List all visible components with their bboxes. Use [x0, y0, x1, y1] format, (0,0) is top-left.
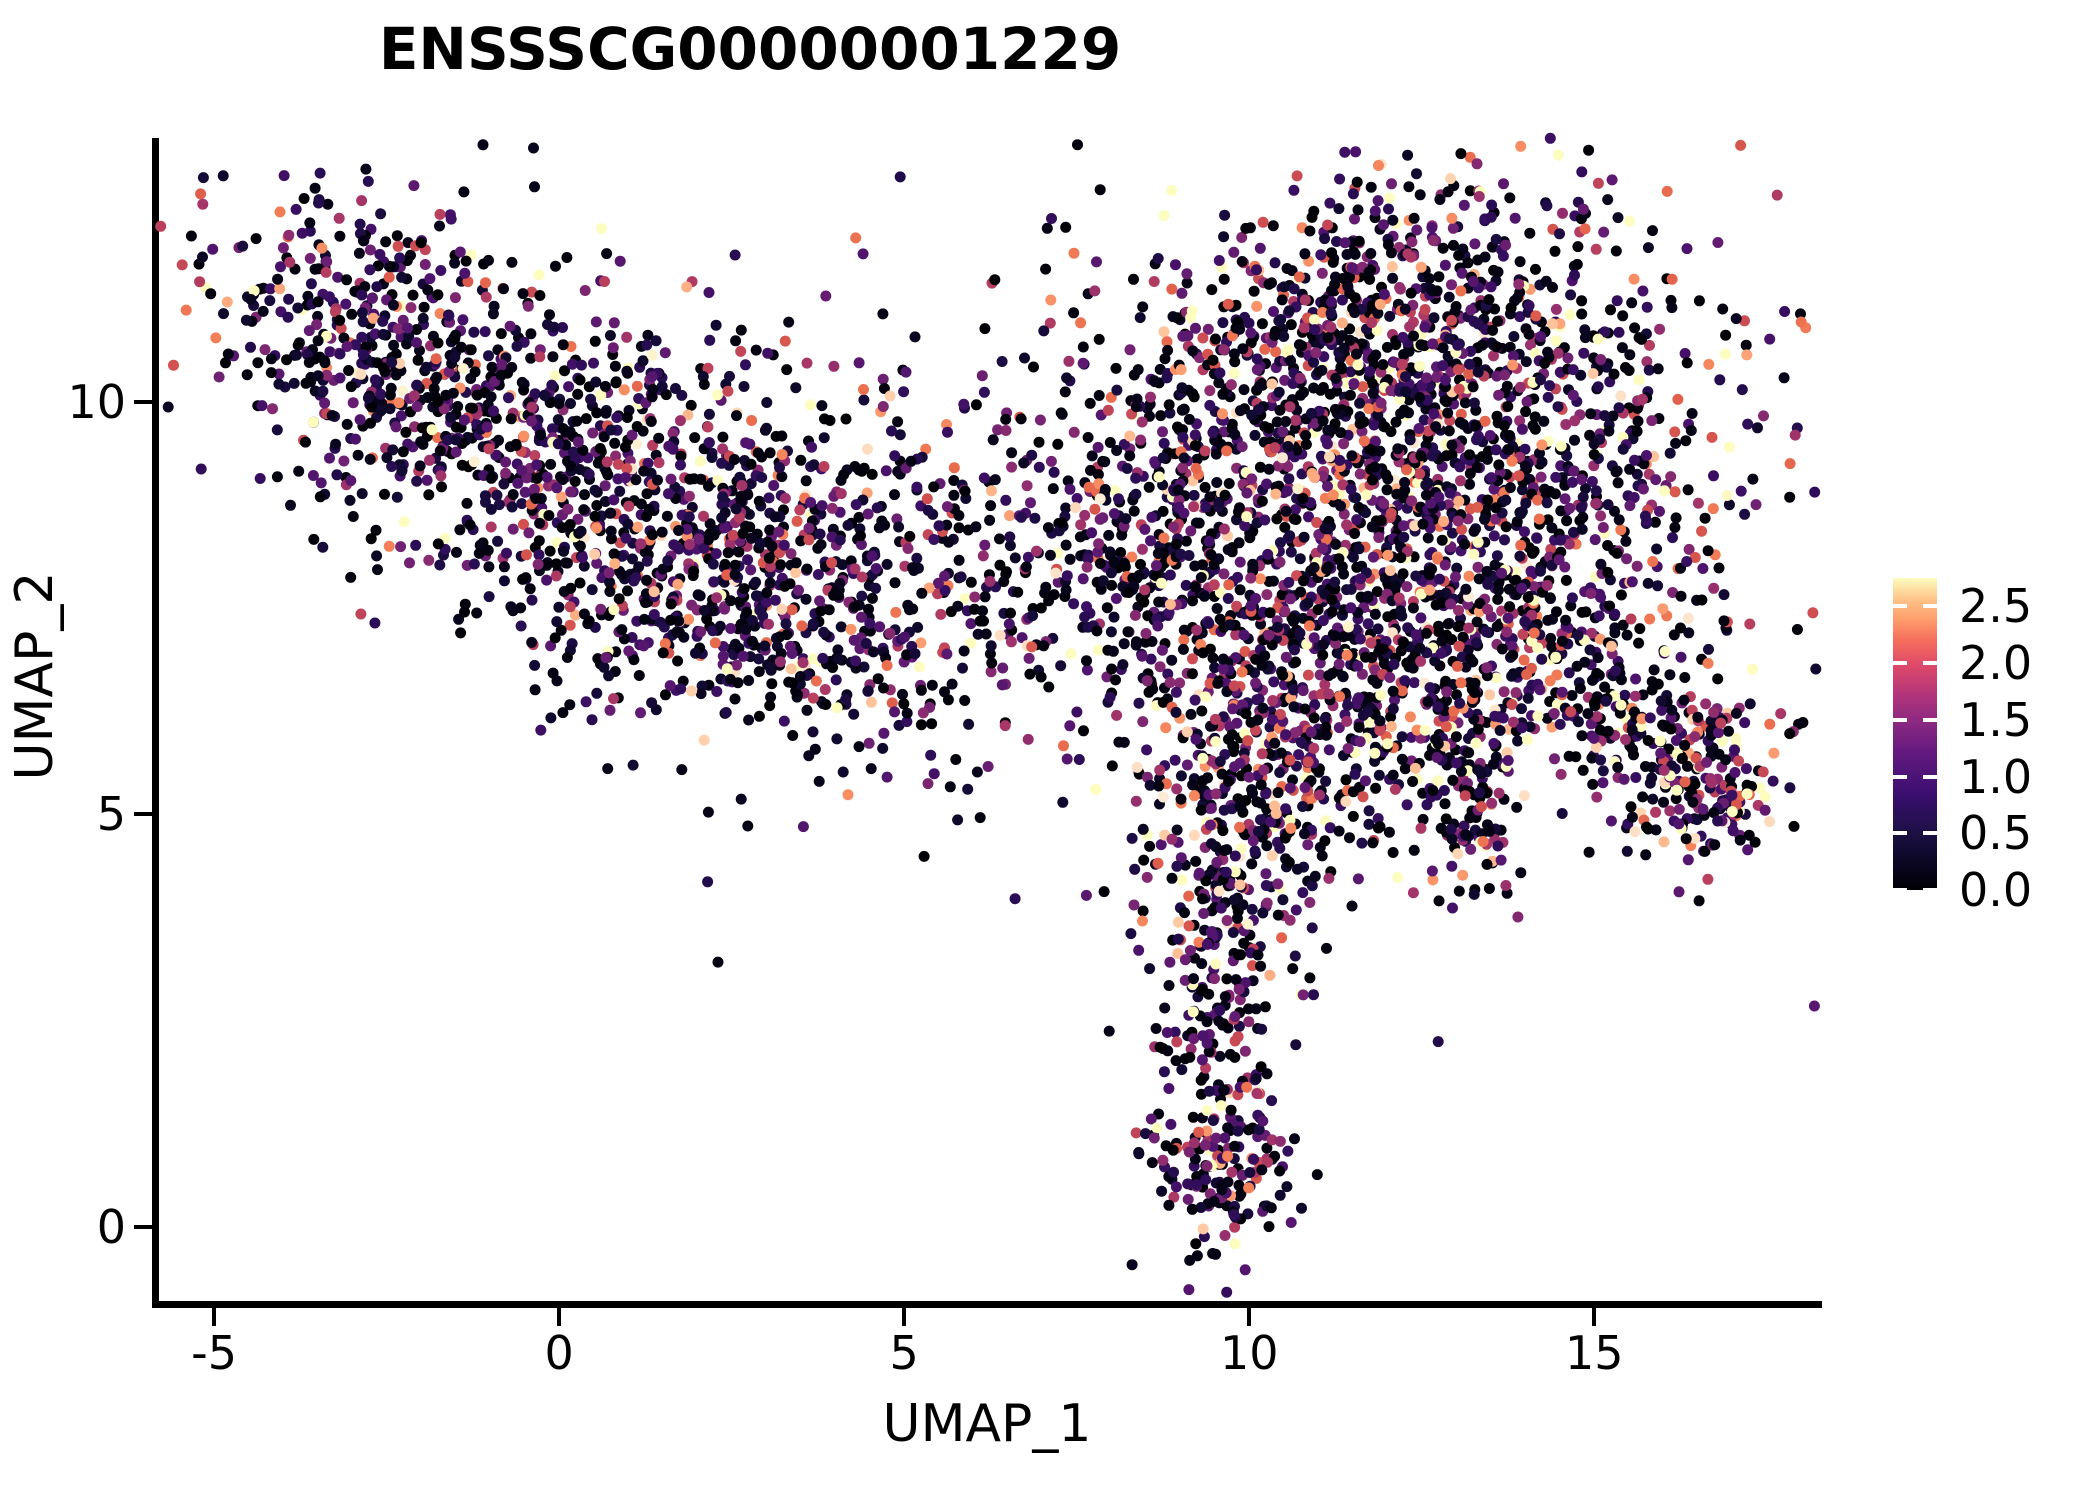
- scatter-point: [275, 206, 286, 217]
- scatter-point: [916, 719, 927, 730]
- scatter-point: [330, 439, 341, 450]
- scatter-point: [260, 344, 271, 355]
- scatter-point: [1387, 273, 1398, 284]
- scatter-point: [1503, 613, 1514, 624]
- scatter-point: [1369, 462, 1380, 473]
- scatter-point: [1551, 304, 1562, 315]
- scatter-point: [863, 685, 874, 696]
- scatter-point: [1654, 506, 1665, 517]
- scatter-point: [1666, 302, 1677, 313]
- scatter-point: [703, 481, 714, 492]
- scatter-point: [266, 367, 277, 378]
- scatter-point: [1395, 552, 1406, 563]
- scatter-point: [1177, 462, 1188, 473]
- scatter-point: [1268, 576, 1279, 587]
- scatter-point: [1504, 601, 1515, 612]
- scatter-point: [1268, 220, 1279, 231]
- scatter-point: [1127, 833, 1138, 844]
- scatter-point: [272, 274, 283, 285]
- scatter-point: [1632, 426, 1643, 437]
- scatter-point: [1433, 626, 1444, 637]
- scatter-point: [890, 607, 901, 618]
- scatter-point: [1000, 414, 1011, 425]
- scatter-point: [342, 419, 353, 430]
- scatter-point: [1622, 630, 1633, 641]
- scatter-point: [722, 386, 733, 397]
- scatter-point: [549, 322, 560, 333]
- scatter-point: [704, 437, 715, 448]
- scatter-point: [267, 403, 278, 414]
- scatter-point: [563, 381, 574, 392]
- scatter-point: [849, 602, 860, 613]
- scatter-point: [1472, 158, 1483, 169]
- scatter-point: [1212, 603, 1223, 614]
- scatter-point: [1519, 655, 1530, 666]
- scatter-point: [693, 533, 704, 544]
- scatter-point: [1642, 302, 1653, 313]
- scatter-point: [1321, 730, 1332, 741]
- scatter-point: [1103, 405, 1114, 416]
- scatter-point: [783, 317, 794, 328]
- scatter-point: [1108, 646, 1119, 657]
- scatter-point: [602, 469, 613, 480]
- scatter-point: [283, 230, 294, 241]
- scatter-point: [948, 490, 959, 501]
- scatter-point: [451, 547, 462, 558]
- scatter-point: [889, 450, 900, 461]
- scatter-point: [1170, 755, 1181, 766]
- scatter-point: [531, 459, 542, 470]
- scatter-point: [1463, 369, 1474, 380]
- scatter-point: [1295, 553, 1306, 564]
- scatter-point: [975, 812, 986, 823]
- scatter-point: [1004, 531, 1015, 542]
- scatter-point: [365, 418, 376, 429]
- scatter-point: [1599, 410, 1610, 421]
- scatter-point: [1069, 427, 1080, 438]
- scatter-point: [1580, 223, 1591, 234]
- scatter-point: [1191, 625, 1202, 636]
- scatter-point: [508, 489, 519, 500]
- scatter-point: [1647, 225, 1658, 236]
- scatter-point: [1382, 738, 1393, 749]
- scatter-point: [252, 357, 263, 368]
- scatter-point: [765, 578, 776, 589]
- scatter-point: [396, 272, 407, 283]
- scatter-point: [638, 466, 649, 477]
- scatter-point: [600, 408, 611, 419]
- scatter-point: [393, 323, 404, 334]
- scatter-point: [528, 143, 539, 154]
- scatter-point: [791, 557, 802, 568]
- scatter-point: [990, 474, 1001, 485]
- scatter-point: [284, 257, 295, 268]
- scatter-point: [979, 473, 990, 484]
- scatter-point: [1006, 462, 1017, 473]
- scatter-point: [299, 193, 310, 204]
- scatter-point: [434, 221, 445, 232]
- scatter-point: [1255, 573, 1266, 584]
- scatter-point: [394, 252, 405, 263]
- scatter-point: [571, 416, 582, 427]
- scatter-point: [496, 328, 507, 339]
- scatter-point: [1585, 408, 1596, 419]
- scatter-point: [1398, 568, 1409, 579]
- scatter-point: [695, 626, 706, 637]
- scatter-point: [774, 631, 785, 642]
- scatter-point: [750, 577, 761, 588]
- scatter-point: [529, 181, 540, 192]
- scatter-point: [1055, 660, 1066, 671]
- scatter-point: [895, 171, 906, 182]
- scatter-point: [879, 520, 890, 531]
- scatter-point: [1309, 562, 1320, 573]
- scatter-point: [730, 560, 741, 571]
- scatter-point: [1149, 375, 1160, 386]
- scatter-point: [488, 406, 499, 417]
- scatter-point: [858, 395, 869, 406]
- scatter-point: [1384, 827, 1395, 838]
- scatter-point: [1217, 317, 1228, 328]
- scatter-point: [432, 289, 443, 300]
- scatter-point: [1453, 496, 1464, 507]
- scatter-point: [1024, 669, 1035, 680]
- scatter-point: [923, 778, 934, 789]
- scatter-point: [1227, 703, 1238, 714]
- scatter-point: [977, 605, 988, 616]
- scatter-point: [590, 336, 601, 347]
- scatter-point: [1081, 890, 1092, 901]
- scatter-point: [608, 604, 619, 615]
- scatter-point: [1090, 784, 1101, 795]
- scatter-point: [1200, 502, 1211, 513]
- scatter-point: [408, 290, 419, 301]
- scatter-point: [1209, 559, 1220, 570]
- scatter-point: [304, 217, 315, 228]
- scatter-point: [365, 454, 376, 465]
- scatter-point: [1378, 498, 1389, 509]
- scatter-point: [1790, 430, 1801, 441]
- scatter-point: [889, 706, 900, 717]
- scatter-point: [1680, 435, 1691, 446]
- scatter-point: [952, 814, 963, 825]
- scatter-point: [1722, 490, 1733, 501]
- scatter-point: [867, 551, 878, 562]
- scatter-point: [776, 431, 787, 442]
- scatter-point: [1137, 544, 1148, 555]
- scatter-point: [790, 567, 801, 578]
- scatter-point: [455, 627, 466, 638]
- scatter-point: [1043, 522, 1054, 533]
- scatter-point: [703, 534, 714, 545]
- scatter-point: [459, 415, 470, 426]
- scatter-point: [977, 370, 988, 381]
- scatter-point: [1303, 598, 1314, 609]
- scatter-point: [660, 638, 671, 649]
- scatter-point: [357, 307, 368, 318]
- scatter-point: [395, 541, 406, 552]
- scatter-point: [534, 290, 545, 301]
- scatter-point: [1521, 356, 1532, 367]
- scatter-point: [1580, 332, 1591, 343]
- scatter-point: [486, 391, 497, 402]
- scatter-point: [1375, 690, 1386, 701]
- scatter-point: [1239, 384, 1250, 395]
- scatter-point: [1455, 417, 1466, 428]
- scatter-point: [1603, 426, 1614, 437]
- scatter-point: [1524, 228, 1535, 239]
- scatter-point: [723, 547, 734, 558]
- scatter-point: [640, 597, 651, 608]
- scatter-point: [358, 349, 369, 360]
- scatter-point: [1134, 570, 1145, 581]
- scatter-point: [523, 527, 534, 538]
- scatter-point: [1064, 720, 1075, 731]
- scatter-point: [304, 325, 315, 336]
- scatter-point: [292, 303, 303, 314]
- scatter-point: [443, 310, 454, 321]
- scatter-point: [870, 583, 881, 594]
- scatter-point: [1382, 484, 1393, 495]
- scatter-point: [450, 292, 461, 303]
- scatter-point: [1741, 340, 1752, 351]
- scatter-point: [1536, 472, 1547, 483]
- scatter-point: [910, 331, 921, 342]
- scatter-point: [635, 538, 646, 549]
- scatter-point: [1144, 482, 1155, 493]
- scatter-point: [902, 708, 913, 719]
- scatter-point: [1484, 689, 1495, 700]
- scatter-point: [861, 638, 872, 649]
- scatter-point: [1397, 731, 1408, 742]
- scatter-point: [521, 549, 532, 560]
- scatter-point: [1339, 147, 1350, 158]
- scatter-point: [580, 285, 591, 296]
- scatter-point: [304, 357, 315, 368]
- scatter-point: [634, 670, 645, 681]
- scatter-point: [673, 544, 684, 555]
- scatter-point: [614, 486, 625, 497]
- scatter-point: [695, 456, 706, 467]
- scatter-point: [1031, 546, 1042, 557]
- scatter-point: [1353, 502, 1364, 513]
- scatter-point: [1344, 832, 1355, 843]
- scatter-point: [941, 649, 952, 660]
- scatter-point: [1085, 465, 1096, 476]
- scatter-point: [805, 399, 816, 410]
- scatter-point: [743, 715, 754, 726]
- scatter-point: [345, 475, 356, 486]
- scatter-point: [838, 469, 849, 480]
- scatter-point: [449, 258, 460, 269]
- scatter-point: [343, 365, 354, 376]
- scatter-point: [1106, 567, 1117, 578]
- scatter-point: [1203, 618, 1214, 629]
- scatter-point: [501, 548, 512, 559]
- scatter-point: [1268, 676, 1279, 687]
- scatter-point: [1224, 478, 1235, 489]
- scatter-point: [1045, 550, 1056, 561]
- scatter-point: [742, 821, 753, 832]
- scatter-point: [371, 281, 382, 292]
- scatter-point: [1000, 720, 1011, 731]
- scatter-point: [966, 577, 977, 588]
- scatter-point: [836, 621, 847, 632]
- scatter-point: [816, 539, 827, 550]
- scatter-point: [1386, 721, 1397, 732]
- scatter-point: [1651, 544, 1662, 555]
- scatter-point: [554, 398, 565, 409]
- scatter-point: [197, 199, 208, 210]
- scatter-point: [1060, 222, 1071, 233]
- scatter-point: [1578, 492, 1589, 503]
- scatter-point: [703, 807, 714, 818]
- scatter-point: [911, 482, 922, 493]
- scatter-point: [1218, 231, 1229, 242]
- scatter-point: [831, 674, 842, 685]
- scatter-point: [1144, 841, 1155, 852]
- scatter-point: [1124, 431, 1135, 442]
- scatter-point: [1682, 243, 1693, 254]
- scatter-point: [1388, 686, 1399, 697]
- scatter-point: [1111, 385, 1122, 396]
- scatter-point: [1285, 915, 1296, 926]
- scatter-point: [1137, 651, 1148, 662]
- scatter-point: [1775, 708, 1786, 719]
- scatter-point: [1065, 554, 1076, 565]
- scatter-point: [1016, 413, 1027, 424]
- scatter-point: [396, 466, 407, 477]
- scatter-point: [1043, 595, 1054, 606]
- scatter-point: [575, 578, 586, 589]
- scatter-point: [1137, 716, 1148, 727]
- scatter-point: [608, 693, 619, 704]
- scatter-point: [1006, 447, 1017, 458]
- scatter-point: [370, 374, 381, 385]
- scatter-point: [1779, 306, 1790, 317]
- scatter-point: [1455, 475, 1466, 486]
- scatter-point: [1491, 673, 1502, 684]
- scatter-point: [965, 618, 976, 629]
- scatter-point: [1292, 170, 1303, 181]
- scatter-point: [1373, 823, 1384, 834]
- scatter-point: [596, 223, 607, 234]
- scatter-point: [1219, 524, 1230, 535]
- scatter-point: [550, 370, 561, 381]
- scatter-point: [529, 484, 540, 495]
- scatter-point: [1141, 744, 1152, 755]
- scatter-point: [1643, 578, 1654, 589]
- scatter-point: [1591, 244, 1602, 255]
- scatter-point: [1669, 522, 1680, 533]
- scatter-point: [1323, 670, 1334, 681]
- scatter-point: [1271, 513, 1282, 524]
- scatter-point: [972, 767, 983, 778]
- scatter-point: [605, 330, 616, 341]
- scatter-point: [508, 524, 519, 535]
- scatter-point: [635, 707, 646, 718]
- scatter-point: [1010, 552, 1021, 563]
- scatter-point: [1360, 775, 1371, 786]
- scatter-point: [544, 309, 555, 320]
- scatter-point: [616, 624, 627, 635]
- scatter-point: [1569, 415, 1580, 426]
- scatter-point: [1137, 301, 1148, 312]
- scatter-point: [422, 475, 433, 486]
- scatter-point: [1111, 593, 1122, 604]
- scatter-point: [638, 355, 649, 366]
- scatter-point: [708, 559, 719, 570]
- scatter-point: [1034, 437, 1045, 448]
- scatter-point: [832, 702, 843, 713]
- scatter-point: [1224, 619, 1235, 630]
- scatter-point: [1366, 182, 1377, 193]
- scatter-point: [1392, 443, 1403, 454]
- scatter-point: [910, 648, 921, 659]
- scatter-point: [481, 292, 492, 303]
- scatter-point: [1322, 425, 1333, 436]
- scatter-point: [1023, 734, 1034, 745]
- scatter-point: [1556, 441, 1567, 452]
- scatter-point: [419, 302, 430, 313]
- scatter-point: [449, 352, 460, 363]
- scatter-point: [363, 393, 374, 404]
- scatter-point: [824, 604, 835, 615]
- scatter-point: [348, 511, 359, 522]
- scatter-point: [721, 707, 732, 718]
- scatter-point: [1138, 824, 1149, 835]
- scatter-point: [1446, 213, 1457, 224]
- scatter-point: [467, 403, 478, 414]
- scatter-point: [1409, 213, 1420, 224]
- scatter-point: [1392, 872, 1403, 883]
- scatter-point: [1416, 262, 1427, 273]
- scatter-point: [985, 576, 996, 587]
- scatter-point: [1109, 508, 1120, 519]
- scatter-point: [1624, 500, 1635, 511]
- scatter-point: [506, 362, 517, 373]
- scatter-point: [711, 592, 722, 603]
- scatter-point: [1235, 584, 1246, 595]
- scatter-point: [1086, 527, 1097, 538]
- scatter-point: [579, 489, 590, 500]
- scatter-point: [411, 476, 422, 487]
- scatter-point: [892, 416, 903, 427]
- scatter-point: [354, 248, 365, 259]
- scatter-point: [756, 472, 767, 483]
- scatter-point: [804, 523, 815, 534]
- scatter-point: [1468, 549, 1479, 560]
- scatter-point: [1595, 354, 1606, 365]
- scatter-point: [1602, 567, 1613, 578]
- scatter-point: [904, 531, 915, 542]
- scatter-point: [558, 339, 569, 350]
- scatter-point: [371, 550, 382, 561]
- scatter-point: [545, 712, 556, 723]
- scatter-point: [1139, 584, 1150, 595]
- scatter-point: [708, 576, 719, 587]
- scatter-point: [1720, 330, 1731, 341]
- scatter-point: [1177, 432, 1188, 443]
- scatter-point: [1400, 763, 1411, 774]
- scatter-point: [1384, 672, 1395, 683]
- scatter-point: [827, 503, 838, 514]
- scatter-point: [686, 400, 697, 411]
- scatter-point: [1561, 515, 1572, 526]
- scatter-point: [315, 168, 326, 179]
- scatter-point: [1779, 372, 1790, 383]
- scatter-point: [459, 268, 470, 279]
